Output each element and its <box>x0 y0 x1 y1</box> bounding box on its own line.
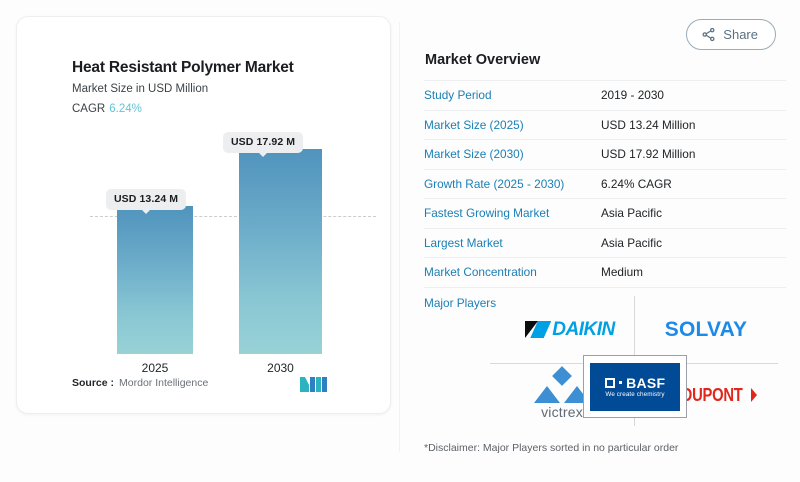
bar-2025[interactable] <box>117 206 193 354</box>
chart-card: Heat Resistant Polymer Market Market Siz… <box>16 16 391 414</box>
dupont-right-arrow-icon <box>751 388 757 402</box>
row-value: 2019 - 2030 <box>601 88 664 102</box>
market-overview-table: Study Period 2019 - 2030 Market Size (20… <box>424 80 786 318</box>
x-axis-label-2025: 2025 <box>117 361 193 375</box>
row-key: Study Period <box>424 88 601 102</box>
table-row: Market Size (2030) USD 17.92 Million <box>424 140 786 170</box>
player-logo-solvay: SOLVAY <box>634 296 778 363</box>
basf-wordmark: BASF <box>626 376 665 390</box>
page-background: Heat Resistant Polymer Market Market Siz… <box>0 0 800 482</box>
row-key: Market Size (2025) <box>424 118 601 132</box>
chart-cagr: CAGR6.24% <box>72 103 142 115</box>
mordor-intelligence-logo-icon <box>299 375 329 393</box>
row-value: Asia Pacific <box>601 206 662 220</box>
source-value: Mordor Intelligence <box>119 377 208 389</box>
bar-chart-plot: USD 13.24 M USD 17.92 M 2025 2030 <box>37 127 373 377</box>
source-row: Source :Mordor Intelligence <box>72 377 208 389</box>
table-row: Market Size (2025) USD 13.24 Million <box>424 111 786 141</box>
cagr-label: CAGR <box>72 103 105 115</box>
daikin-wordmark: DAIKIN <box>552 320 614 339</box>
source-label: Source : <box>72 377 114 389</box>
share-network-icon <box>701 27 716 42</box>
share-button-label: Share <box>723 27 758 42</box>
basf-tagline: We create chemistry <box>605 391 664 398</box>
cagr-value: 6.24% <box>109 103 142 115</box>
disclaimer-text: *Disclaimer: Major Players sorted in no … <box>424 442 678 454</box>
row-value: USD 13.24 Million <box>601 118 695 132</box>
row-key: Largest Market <box>424 236 601 250</box>
bar-value-label-2025: USD 13.24 M <box>106 189 186 210</box>
row-value: 6.24% CAGR <box>601 177 672 191</box>
table-row: Largest Market Asia Pacific <box>424 229 786 259</box>
table-row: Fastest Growing Market Asia Pacific <box>424 199 786 229</box>
bar-value-label-2030: USD 17.92 M <box>223 132 303 153</box>
bar-2030[interactable] <box>239 149 322 354</box>
row-key: Market Concentration <box>424 265 601 279</box>
victrex-wordmark: victrex <box>541 404 583 420</box>
solvay-wordmark: SOLVAY <box>665 319 748 340</box>
victrex-mark-icon <box>534 369 590 403</box>
daikin-mark-icon <box>525 321 551 338</box>
row-key: Growth Rate (2025 - 2030) <box>424 177 601 191</box>
overview-title: Market Overview <box>425 52 540 68</box>
share-button[interactable]: Share <box>686 19 776 50</box>
panel-divider <box>399 22 400 452</box>
row-value: Medium <box>601 265 643 279</box>
player-logo-daikin: DAIKIN <box>490 296 634 363</box>
basf-square-icon <box>605 378 615 388</box>
row-value: USD 17.92 Million <box>601 147 695 161</box>
x-axis-label-2030: 2030 <box>239 361 322 375</box>
chart-title: Heat Resistant Polymer Market <box>72 59 294 77</box>
dupont-wordmark: DUPONT <box>682 386 743 404</box>
basf-dot-icon <box>619 381 623 385</box>
player-logo-basf: BASF We create chemistry <box>583 355 687 418</box>
row-value: Asia Pacific <box>601 236 662 250</box>
table-row: Market Concentration Medium <box>424 258 786 288</box>
row-key: Market Size (2030) <box>424 147 601 161</box>
chart-subtitle: Market Size in USD Million <box>72 83 208 95</box>
row-key: Fastest Growing Market <box>424 206 601 220</box>
table-row: Growth Rate (2025 - 2030) 6.24% CAGR <box>424 170 786 200</box>
table-row: Study Period 2019 - 2030 <box>424 80 786 111</box>
